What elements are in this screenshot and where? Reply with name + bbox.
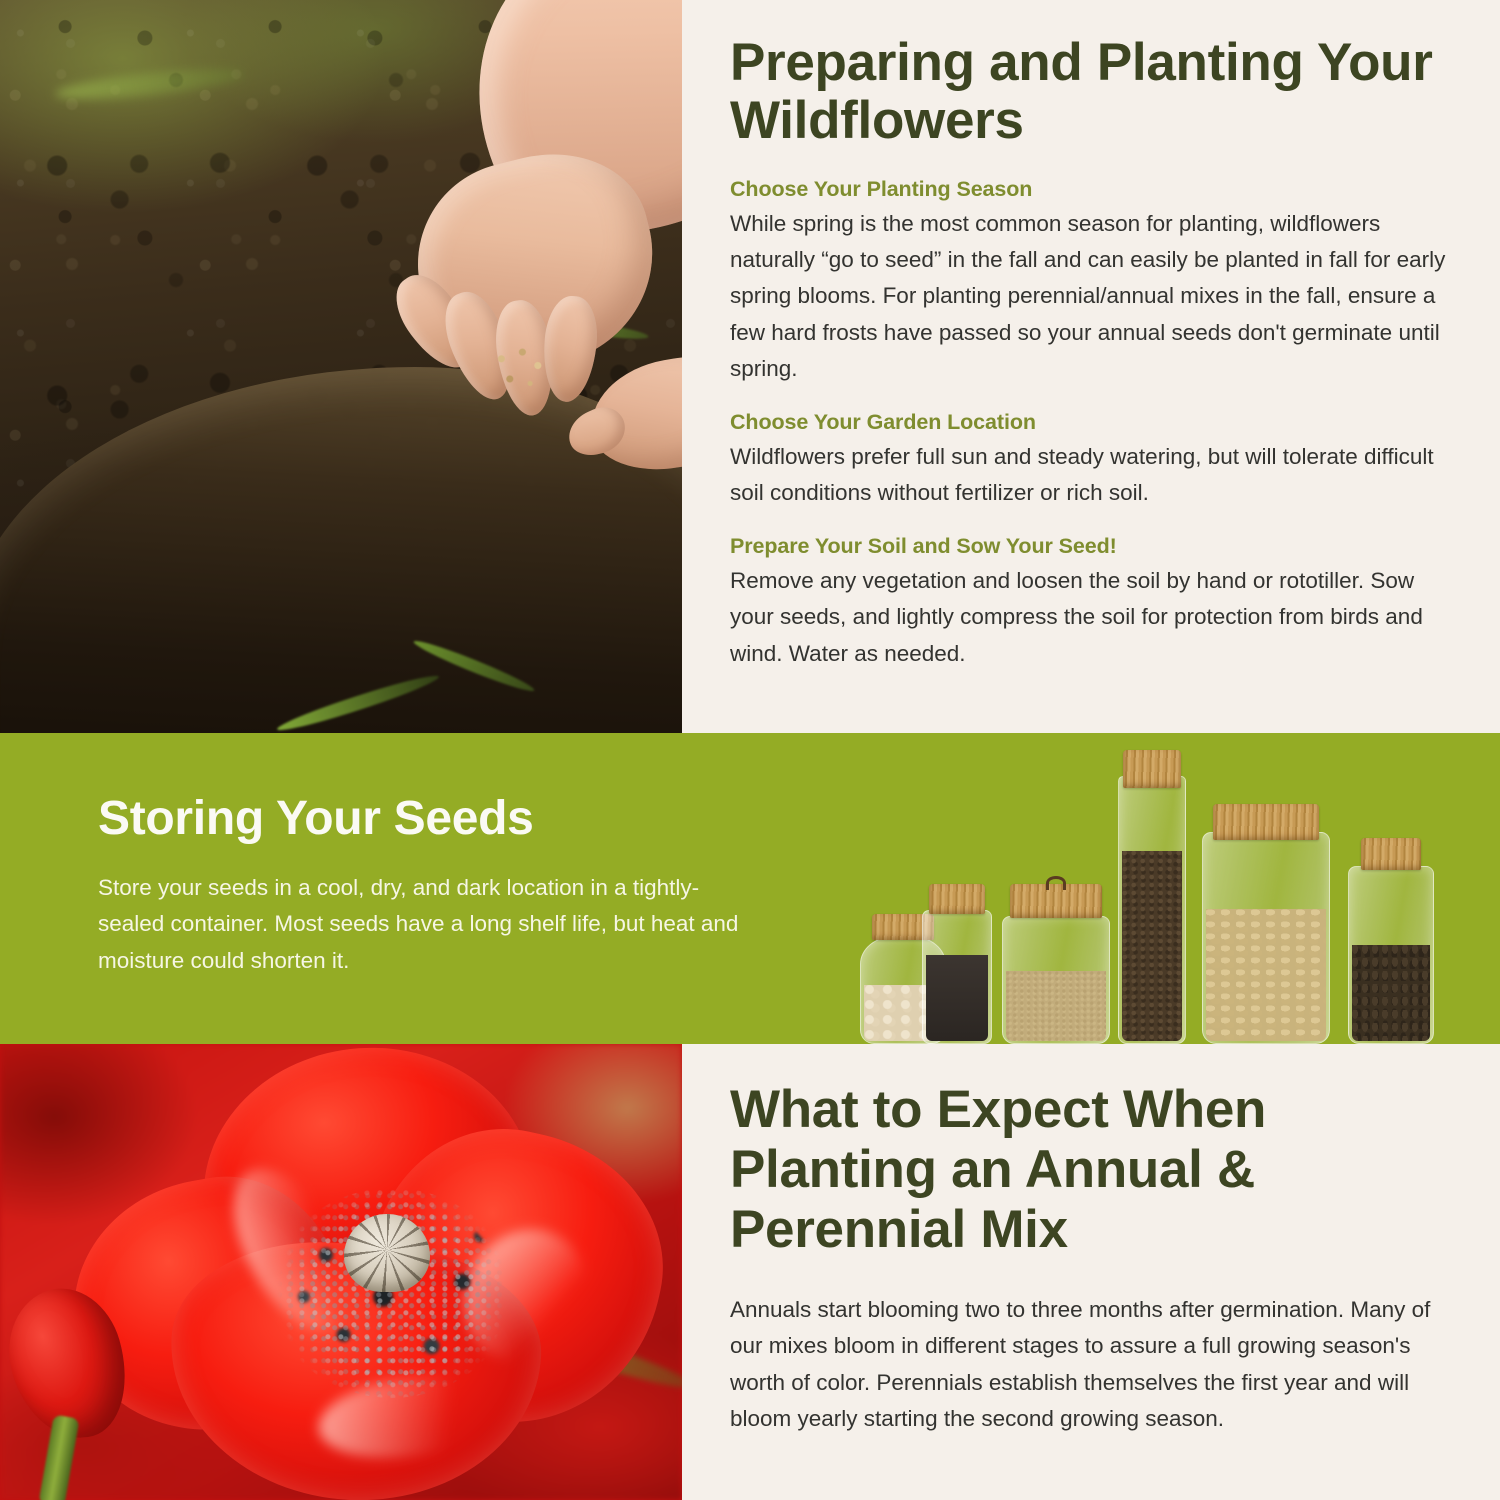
pistil — [344, 1214, 430, 1292]
subheading-planting-season: Choose Your Planting Season — [730, 177, 1454, 202]
section-storing-your-seeds: Storing Your Seeds Store your seeds in a… — [0, 733, 1500, 1044]
second-hand — [560, 350, 682, 490]
jar-glass — [1118, 776, 1186, 1044]
body-storing: Store your seeds in a cool, dry, and dar… — [98, 870, 758, 979]
page-title-what-to-expect: What to Expect When Planting an Annual &… — [730, 1080, 1454, 1260]
cork-stopper-icon — [1361, 838, 1421, 870]
seed-jars-photo — [850, 753, 1450, 1044]
cork-stopper-icon — [1213, 804, 1319, 840]
pistil-ridges — [344, 1214, 430, 1292]
page-title-planting: Preparing and Planting Your Wildflowers — [730, 34, 1454, 151]
subheading-prepare-soil: Prepare Your Soil and Sow Your Seed! — [730, 534, 1454, 559]
planting-text-column: Preparing and Planting Your Wildflowers … — [682, 0, 1500, 733]
body-planting-season: While spring is the most common season f… — [730, 206, 1454, 388]
jar-contents — [1006, 971, 1106, 1041]
jar-contents — [1122, 851, 1182, 1041]
jar-contents — [926, 955, 988, 1041]
section-what-to-expect: What to Expect When Planting an Annual &… — [0, 1044, 1500, 1500]
jar-glass — [1348, 866, 1434, 1044]
soil-planting-photo — [0, 0, 682, 733]
lid-handle-icon — [1046, 876, 1066, 890]
seed-jar-tall-brown-seeds — [1118, 750, 1186, 1044]
jar-contents — [1206, 909, 1326, 1041]
seeds-in-hand — [486, 342, 556, 398]
seed-jar-sunflower-seeds — [1348, 838, 1434, 1044]
cork-stopper-icon — [1123, 750, 1181, 788]
jar-glass — [1202, 832, 1330, 1044]
body-prepare-soil: Remove any vegetation and loosen the soi… — [730, 563, 1454, 672]
cork-stopper-icon — [929, 884, 985, 914]
body-what-to-expect: Annuals start blooming two to three mont… — [730, 1292, 1454, 1438]
section-preparing-and-planting: Preparing and Planting Your Wildflowers … — [0, 0, 1500, 733]
infographic-page: Preparing and Planting Your Wildflowers … — [0, 0, 1500, 1500]
expect-text-column: What to Expect When Planting an Annual &… — [682, 1044, 1500, 1500]
seed-jar-pumpkin-seeds — [1202, 804, 1330, 1044]
jar-glass — [1002, 916, 1110, 1044]
seed-jar-black-seeds — [922, 884, 992, 1044]
seed-jar-fine-tan-seeds — [1002, 884, 1110, 1044]
jar-contents — [1352, 945, 1430, 1041]
jar-glass — [922, 910, 992, 1044]
red-poppy-photo — [0, 1044, 682, 1500]
poppy-bloom — [74, 1048, 654, 1500]
subheading-garden-location: Choose Your Garden Location — [730, 410, 1454, 435]
body-garden-location: Wildflowers prefer full sun and steady w… — [730, 439, 1454, 512]
page-title-storing: Storing Your Seeds — [98, 791, 758, 846]
poppy-center — [282, 1198, 502, 1388]
storing-text-column: Storing Your Seeds Store your seeds in a… — [98, 791, 758, 979]
